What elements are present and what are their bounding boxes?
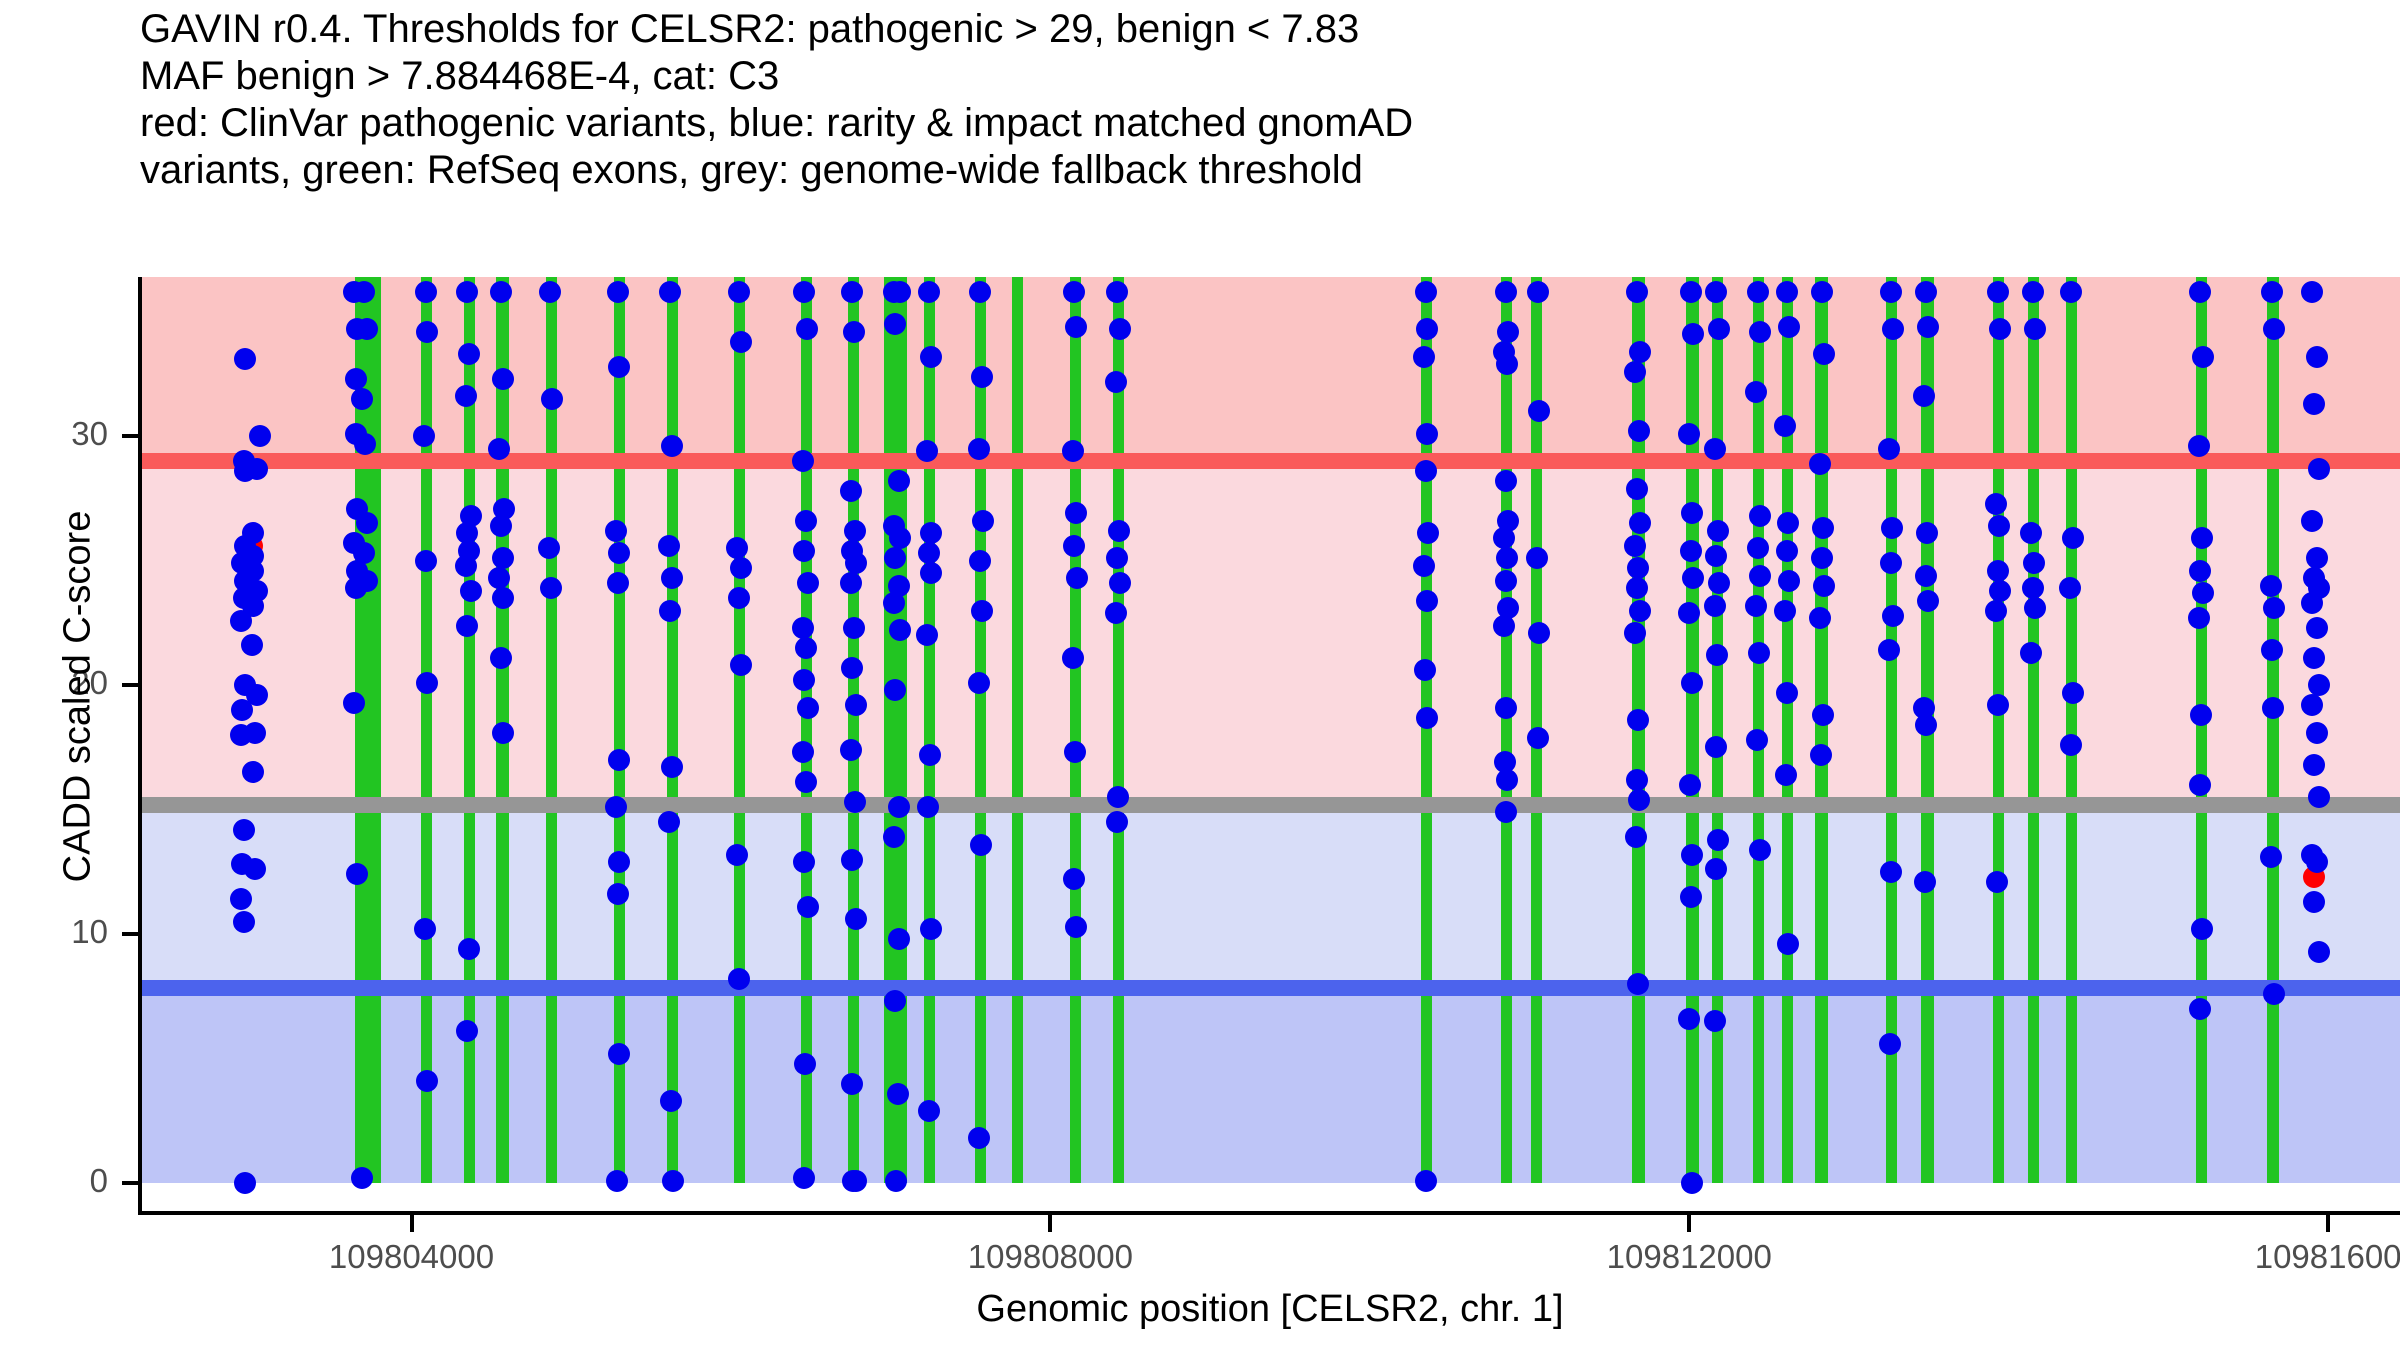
gnomad-variant-point bbox=[1776, 540, 1798, 562]
gnomad-variant-point bbox=[1062, 647, 1084, 669]
gnomad-variant-point bbox=[2306, 851, 2328, 873]
gnomad-variant-point bbox=[1680, 540, 1702, 562]
gnomad-variant-point bbox=[1880, 552, 1902, 574]
x-axis-tick-label: 109808000 bbox=[968, 1238, 1133, 1276]
x-axis-title: Genomic position [CELSR2, chr. 1] bbox=[140, 1288, 2400, 1331]
gnomad-variant-point bbox=[920, 562, 942, 584]
gnomad-variant-point bbox=[1625, 826, 1647, 848]
gnomad-variant-point bbox=[1774, 600, 1796, 622]
gnomad-variant-point bbox=[1810, 744, 1832, 766]
gnomad-variant-point bbox=[2192, 346, 2214, 368]
y-axis-title: CADD scaled C-score bbox=[57, 297, 100, 1097]
gnomad-variant-point bbox=[1987, 281, 2009, 303]
gnomad-variant-point bbox=[795, 510, 817, 532]
gnomad-variant-point bbox=[840, 480, 862, 502]
gnomad-variant-point bbox=[490, 281, 512, 303]
gnomad-variant-point bbox=[1063, 868, 1085, 890]
gnomad-variant-point bbox=[1416, 590, 1438, 612]
gnomad-variant-point bbox=[1986, 871, 2008, 893]
gnomad-variant-point bbox=[1678, 1008, 1700, 1030]
gnomad-variant-point bbox=[797, 697, 819, 719]
gnomad-variant-point bbox=[968, 438, 990, 460]
gnomad-variant-point bbox=[2308, 458, 2330, 480]
gnomad-variant-point bbox=[233, 819, 255, 841]
gnomad-variant-point bbox=[2308, 786, 2330, 808]
gnomad-variant-point bbox=[1678, 423, 1700, 445]
gnomad-variant-point bbox=[1778, 570, 1800, 592]
gnomad-variant-point bbox=[1681, 1172, 1703, 1194]
gnomad-variant-point bbox=[1628, 789, 1650, 811]
gnomad-variant-point bbox=[1882, 318, 1904, 340]
x-axis-tick-label: 109812000 bbox=[1607, 1238, 1772, 1276]
gnomad-variant-point bbox=[1878, 438, 1900, 460]
gnomad-variant-point bbox=[2263, 983, 2285, 1005]
gnomad-variant-point bbox=[661, 567, 683, 589]
gnomad-variant-point bbox=[843, 617, 865, 639]
refseq-exon-bar bbox=[1686, 277, 1699, 1183]
gnomad-variant-point bbox=[2308, 674, 2330, 696]
gnomad-variant-point bbox=[2306, 617, 2328, 639]
gnomad-variant-point bbox=[794, 1053, 816, 1075]
gnomad-variant-point bbox=[1109, 572, 1131, 594]
gnomad-variant-point bbox=[1985, 600, 2007, 622]
gnomad-variant-point bbox=[353, 281, 375, 303]
gnomad-variant-point bbox=[456, 615, 478, 637]
refseq-exon-bar bbox=[801, 277, 812, 1183]
refseq-exon-bar bbox=[884, 277, 906, 1183]
refseq-exon-bar bbox=[1993, 277, 2004, 1183]
x-axis-tick bbox=[410, 1215, 414, 1232]
gnomad-variant-point bbox=[605, 520, 627, 542]
refseq-exon-bar bbox=[924, 277, 935, 1183]
gnomad-variant-point bbox=[2062, 527, 2084, 549]
refseq-exon-bar bbox=[2196, 277, 2207, 1183]
gnomad-variant-point bbox=[659, 281, 681, 303]
gnomad-variant-point bbox=[1707, 520, 1729, 542]
gnomad-variant-point bbox=[1108, 520, 1130, 542]
gnomad-variant-point bbox=[2022, 577, 2044, 599]
gnomad-variant-point bbox=[1707, 829, 1729, 851]
benign-threshold-line bbox=[140, 980, 2400, 996]
gnomad-variant-point bbox=[1413, 346, 1435, 368]
gnomad-variant-point bbox=[1746, 729, 1768, 751]
gnomad-variant-point bbox=[659, 600, 681, 622]
refseq-exon-bar bbox=[2066, 277, 2077, 1183]
gnomad-variant-point bbox=[1528, 622, 1550, 644]
gnomad-variant-point bbox=[1680, 886, 1702, 908]
title-line-1: GAVIN r0.4. Thresholds for CELSR2: patho… bbox=[140, 6, 2380, 53]
gnomad-variant-point bbox=[1626, 478, 1648, 500]
gnomad-variant-point bbox=[888, 796, 910, 818]
gnomad-variant-point bbox=[456, 1020, 478, 1042]
gnomad-variant-point bbox=[249, 425, 271, 447]
y-axis-tick bbox=[122, 683, 140, 687]
gnomad-variant-point bbox=[2188, 435, 2210, 457]
gnomad-variant-point bbox=[1809, 453, 1831, 475]
gnomad-variant-point bbox=[1749, 321, 1771, 343]
gnomad-variant-point bbox=[1415, 460, 1437, 482]
gnomad-variant-point bbox=[2303, 891, 2325, 913]
x-axis-tick bbox=[1048, 1215, 1052, 1232]
gnomad-variant-point bbox=[2306, 722, 2328, 744]
gnomad-variant-point bbox=[1495, 697, 1517, 719]
gnomad-variant-point bbox=[230, 724, 252, 746]
gnomad-variant-point bbox=[919, 744, 941, 766]
refseq-exon-bar bbox=[421, 277, 432, 1183]
gnomad-variant-point bbox=[1066, 567, 1088, 589]
gnomad-variant-point bbox=[2020, 642, 2042, 664]
gnomad-variant-point bbox=[2188, 607, 2210, 629]
gnomad-variant-point bbox=[844, 520, 866, 542]
gnomad-variant-point bbox=[2301, 510, 2323, 532]
gnomad-variant-point bbox=[2192, 582, 2214, 604]
gnomad-variant-point bbox=[918, 1100, 940, 1122]
gnomad-variant-point bbox=[492, 547, 514, 569]
gnomad-variant-point bbox=[607, 281, 629, 303]
gnomad-variant-point bbox=[1629, 600, 1651, 622]
fallback-threshold-line bbox=[140, 797, 2400, 813]
gnomad-variant-point bbox=[608, 1043, 630, 1065]
refseq-exon-bar bbox=[546, 277, 557, 1183]
gnomad-variant-point bbox=[1495, 281, 1517, 303]
gnomad-variant-point bbox=[1105, 602, 1127, 624]
gnomad-variant-point bbox=[458, 938, 480, 960]
gnomad-variant-point bbox=[492, 368, 514, 390]
gnomad-variant-point bbox=[1914, 871, 1936, 893]
gnomad-variant-point bbox=[490, 515, 512, 537]
gnomad-variant-point bbox=[797, 896, 819, 918]
ambiguous-lower-band bbox=[140, 805, 2400, 988]
x-axis-tick bbox=[2326, 1215, 2330, 1232]
title-line-4: variants, green: RefSeq exons, grey: gen… bbox=[140, 147, 2380, 194]
gnomad-variant-point bbox=[1681, 672, 1703, 694]
gnomad-variant-point bbox=[920, 522, 942, 544]
gnomad-variant-point bbox=[1811, 281, 1833, 303]
gnomad-variant-point bbox=[1624, 535, 1646, 557]
gnomad-variant-point bbox=[730, 331, 752, 353]
gnomad-variant-point bbox=[488, 438, 510, 460]
gnomad-variant-point bbox=[661, 435, 683, 457]
refseq-exon-bar bbox=[1421, 277, 1432, 1183]
gnomad-variant-point bbox=[793, 1167, 815, 1189]
gnomad-variant-point bbox=[1917, 590, 1939, 612]
gnomad-variant-point bbox=[728, 587, 750, 609]
x-axis-tick bbox=[1687, 1215, 1691, 1232]
gnomad-variant-point bbox=[2301, 281, 2323, 303]
gnomad-variant-point bbox=[1745, 595, 1767, 617]
gnomad-variant-point bbox=[970, 834, 992, 856]
gnomad-variant-point bbox=[492, 722, 514, 744]
gnomad-variant-point bbox=[1745, 381, 1767, 403]
gnomad-variant-point bbox=[1626, 769, 1648, 791]
gnomad-variant-point bbox=[1065, 916, 1087, 938]
gnomad-variant-point bbox=[1496, 769, 1518, 791]
gnomad-variant-point bbox=[1749, 565, 1771, 587]
gnomad-variant-point bbox=[608, 749, 630, 771]
gnomad-variant-point bbox=[841, 1073, 863, 1095]
gnomad-variant-point bbox=[971, 366, 993, 388]
gnomad-variant-point bbox=[2263, 318, 2285, 340]
gnomad-variant-point bbox=[2303, 754, 2325, 776]
gnomad-variant-point bbox=[1527, 727, 1549, 749]
gnomad-variant-point bbox=[1527, 281, 1549, 303]
gnomad-variant-point bbox=[1917, 316, 1939, 338]
figure-title-block: GAVIN r0.4. Thresholds for CELSR2: patho… bbox=[140, 6, 2380, 194]
gnomad-variant-point bbox=[607, 883, 629, 905]
refseq-exon-bar bbox=[975, 277, 986, 1183]
gnomad-variant-point bbox=[969, 550, 991, 572]
gnomad-variant-point bbox=[1626, 577, 1648, 599]
gnomad-variant-point bbox=[2191, 918, 2213, 940]
gnomad-variant-point bbox=[1415, 281, 1437, 303]
gnomad-variant-point bbox=[1811, 547, 1833, 569]
title-line-2: MAF benign > 7.884468E-4, cat: C3 bbox=[140, 53, 2380, 100]
gnomad-variant-point bbox=[1680, 281, 1702, 303]
gavin-cadd-scatter-figure: GAVIN r0.4. Thresholds for CELSR2: patho… bbox=[0, 0, 2400, 1350]
gnomad-variant-point bbox=[1915, 565, 1937, 587]
gnomad-variant-point bbox=[726, 844, 748, 866]
gnomad-variant-point bbox=[845, 694, 867, 716]
gnomad-variant-point bbox=[1989, 580, 2011, 602]
gnomad-variant-point bbox=[356, 318, 378, 340]
gnomad-variant-point bbox=[1626, 281, 1648, 303]
gnomad-variant-point bbox=[2022, 281, 2044, 303]
benign-band bbox=[140, 988, 2400, 1183]
gnomad-variant-point bbox=[920, 346, 942, 368]
gnomad-variant-point bbox=[2062, 682, 2084, 704]
gnomad-variant-point bbox=[1493, 615, 1515, 637]
gnomad-variant-point bbox=[541, 388, 563, 410]
gnomad-variant-point bbox=[230, 888, 252, 910]
gnomad-variant-point bbox=[490, 647, 512, 669]
gnomad-variant-point bbox=[1704, 438, 1726, 460]
y-axis-tick bbox=[122, 1181, 140, 1185]
gnomad-variant-point bbox=[841, 657, 863, 679]
gnomad-variant-point bbox=[1416, 707, 1438, 729]
gnomad-variant-point bbox=[1416, 423, 1438, 445]
refseq-exon-bar bbox=[1815, 277, 1828, 1183]
gnomad-variant-point bbox=[792, 617, 814, 639]
gnomad-variant-point bbox=[1495, 470, 1517, 492]
gnomad-variant-point bbox=[1415, 1170, 1437, 1192]
gnomad-variant-point bbox=[840, 739, 862, 761]
gnomad-variant-point bbox=[1915, 281, 1937, 303]
gnomad-variant-point bbox=[2303, 393, 2325, 415]
x-axis-line bbox=[140, 1211, 2400, 1215]
gnomad-variant-point bbox=[416, 672, 438, 694]
gnomad-variant-point bbox=[455, 555, 477, 577]
gnomad-variant-point bbox=[797, 572, 819, 594]
gnomad-variant-point bbox=[795, 637, 817, 659]
gnomad-variant-point bbox=[1627, 973, 1649, 995]
pathogenic-band bbox=[140, 277, 2400, 461]
gnomad-variant-point bbox=[844, 791, 866, 813]
gnomad-variant-point bbox=[1704, 595, 1726, 617]
gnomad-variant-point bbox=[2303, 647, 2325, 669]
gnomad-variant-point bbox=[843, 321, 865, 343]
refseq-exon-bar bbox=[848, 277, 859, 1183]
gnomad-variant-point bbox=[351, 388, 373, 410]
gnomad-variant-point bbox=[1987, 560, 2009, 582]
refseq-exon-bar bbox=[2267, 277, 2278, 1183]
gnomad-variant-point bbox=[971, 600, 993, 622]
gnomad-variant-point bbox=[1708, 318, 1730, 340]
gnomad-variant-point bbox=[2263, 597, 2285, 619]
gnomad-variant-point bbox=[415, 550, 437, 572]
refseq-exon-bar bbox=[464, 277, 475, 1183]
gnomad-variant-point bbox=[415, 281, 437, 303]
gnomad-variant-point bbox=[233, 911, 255, 933]
gnomad-variant-point bbox=[728, 281, 750, 303]
gnomad-variant-point bbox=[1704, 1010, 1726, 1032]
x-axis-tick-label: 10981600 bbox=[2255, 1238, 2400, 1276]
gnomad-variant-point bbox=[1106, 811, 1128, 833]
gnomad-variant-point bbox=[662, 1170, 684, 1192]
gnomad-variant-point bbox=[1495, 570, 1517, 592]
gnomad-variant-point bbox=[841, 849, 863, 871]
refseq-exon-bar bbox=[1712, 277, 1723, 1183]
gnomad-variant-point bbox=[1624, 361, 1646, 383]
y-axis-tick bbox=[122, 434, 140, 438]
refseq-exon-bar bbox=[1782, 277, 1793, 1183]
gnomad-variant-point bbox=[2308, 941, 2330, 963]
gnomad-variant-point bbox=[2189, 774, 2211, 796]
gnomad-variant-point bbox=[1775, 764, 1797, 786]
gnomad-variant-point bbox=[1882, 605, 1904, 627]
gnomad-variant-point bbox=[458, 343, 480, 365]
gnomad-variant-point bbox=[728, 968, 750, 990]
refseq-exon-bar bbox=[734, 277, 745, 1183]
gnomad-variant-point bbox=[1813, 575, 1835, 597]
gnomad-variant-point bbox=[845, 552, 867, 574]
x-axis-tick-label: 109804000 bbox=[329, 1238, 494, 1276]
gnomad-variant-point bbox=[2024, 597, 2046, 619]
title-line-3: red: ClinVar pathogenic variants, blue: … bbox=[140, 100, 2380, 147]
gnomad-variant-point bbox=[845, 908, 867, 930]
gnomad-variant-point bbox=[1705, 736, 1727, 758]
gnomad-variant-point bbox=[2261, 281, 2283, 303]
refseq-exon-bar bbox=[1070, 277, 1081, 1183]
gnomad-variant-point bbox=[608, 851, 630, 873]
gnomad-variant-point bbox=[845, 1170, 867, 1192]
gnomad-variant-point bbox=[887, 1083, 909, 1105]
gnomad-variant-point bbox=[1679, 774, 1701, 796]
gnomad-variant-point bbox=[1708, 572, 1730, 594]
refseq-exon-bar bbox=[1012, 277, 1023, 1183]
plot-panel bbox=[140, 277, 2400, 1213]
gnomad-variant-point bbox=[608, 356, 630, 378]
gnomad-variant-point bbox=[1749, 839, 1771, 861]
gnomad-variant-point bbox=[1989, 318, 2011, 340]
gnomad-variant-point bbox=[1812, 704, 1834, 726]
gnomad-variant-point bbox=[885, 1170, 907, 1192]
pathogenic-threshold-line bbox=[140, 453, 2400, 469]
gnomad-variant-point bbox=[1062, 440, 1084, 462]
gnomad-variant-point bbox=[2189, 560, 2211, 582]
gnomad-variant-point bbox=[840, 572, 862, 594]
gnomad-variant-point bbox=[1526, 547, 1548, 569]
gnomad-variant-point bbox=[1497, 321, 1519, 343]
gnomad-variant-point bbox=[730, 654, 752, 676]
y-axis-tick-label: 0 bbox=[0, 1162, 108, 1200]
gnomad-variant-point bbox=[1778, 316, 1800, 338]
gnomad-variant-point bbox=[1985, 493, 2007, 515]
gnomad-variant-point bbox=[889, 281, 911, 303]
gnomad-variant-point bbox=[1629, 341, 1651, 363]
gnomad-variant-point bbox=[351, 1167, 373, 1189]
gnomad-variant-point bbox=[460, 580, 482, 602]
refseq-exon-bar bbox=[355, 277, 381, 1183]
refseq-exon-bar bbox=[1113, 277, 1124, 1183]
gnomad-variant-point bbox=[343, 692, 365, 714]
gnomad-variant-point bbox=[2060, 281, 2082, 303]
refseq-exon-bar bbox=[667, 277, 678, 1183]
gnomad-variant-point bbox=[1105, 371, 1127, 393]
y-axis-line bbox=[138, 277, 142, 1215]
gnomad-variant-point bbox=[605, 796, 627, 818]
gnomad-variant-point bbox=[230, 610, 252, 632]
gnomad-variant-point bbox=[883, 826, 905, 848]
gnomad-variant-point bbox=[2262, 697, 2284, 719]
gnomad-variant-point bbox=[1747, 281, 1769, 303]
gnomad-variant-point bbox=[1776, 281, 1798, 303]
gnomad-variant-point bbox=[345, 368, 367, 390]
gnomad-variant-point bbox=[1495, 801, 1517, 823]
gnomad-variant-point bbox=[883, 592, 905, 614]
gnomad-variant-point bbox=[972, 510, 994, 532]
gnomad-variant-point bbox=[1880, 281, 1902, 303]
gnomad-variant-point bbox=[1748, 642, 1770, 664]
gnomad-variant-point bbox=[969, 281, 991, 303]
gnomad-variant-point bbox=[796, 318, 818, 340]
gnomad-variant-point bbox=[2306, 346, 2328, 368]
gnomad-variant-point bbox=[2260, 575, 2282, 597]
gnomad-variant-point bbox=[1749, 505, 1771, 527]
y-axis-tick bbox=[122, 932, 140, 936]
gnomad-variant-point bbox=[888, 470, 910, 492]
gnomad-variant-point bbox=[658, 535, 680, 557]
gnomad-variant-point bbox=[1065, 316, 1087, 338]
gnomad-variant-point bbox=[1109, 318, 1131, 340]
gnomad-variant-point bbox=[607, 572, 629, 594]
gnomad-variant-point bbox=[658, 811, 680, 833]
gnomad-variant-point bbox=[730, 557, 752, 579]
gnomad-variant-point bbox=[1624, 622, 1646, 644]
gnomad-variant-point bbox=[2060, 734, 2082, 756]
gnomad-variant-point bbox=[968, 672, 990, 694]
gnomad-variant-point bbox=[918, 281, 940, 303]
gnomad-variant-point bbox=[1988, 515, 2010, 537]
refseq-exon-bar bbox=[2028, 277, 2039, 1183]
gnomad-variant-point bbox=[1879, 1033, 1901, 1055]
gnomad-variant-point bbox=[1413, 555, 1435, 577]
gnomad-variant-point bbox=[792, 450, 814, 472]
gnomad-variant-point bbox=[660, 1090, 682, 1112]
refseq-exon-bar bbox=[1501, 277, 1512, 1183]
gnomad-variant-point bbox=[920, 918, 942, 940]
gnomad-variant-point bbox=[606, 1170, 628, 1192]
gnomad-variant-point bbox=[354, 433, 376, 455]
gnomad-variant-point bbox=[1681, 844, 1703, 866]
gnomad-variant-point bbox=[345, 577, 367, 599]
